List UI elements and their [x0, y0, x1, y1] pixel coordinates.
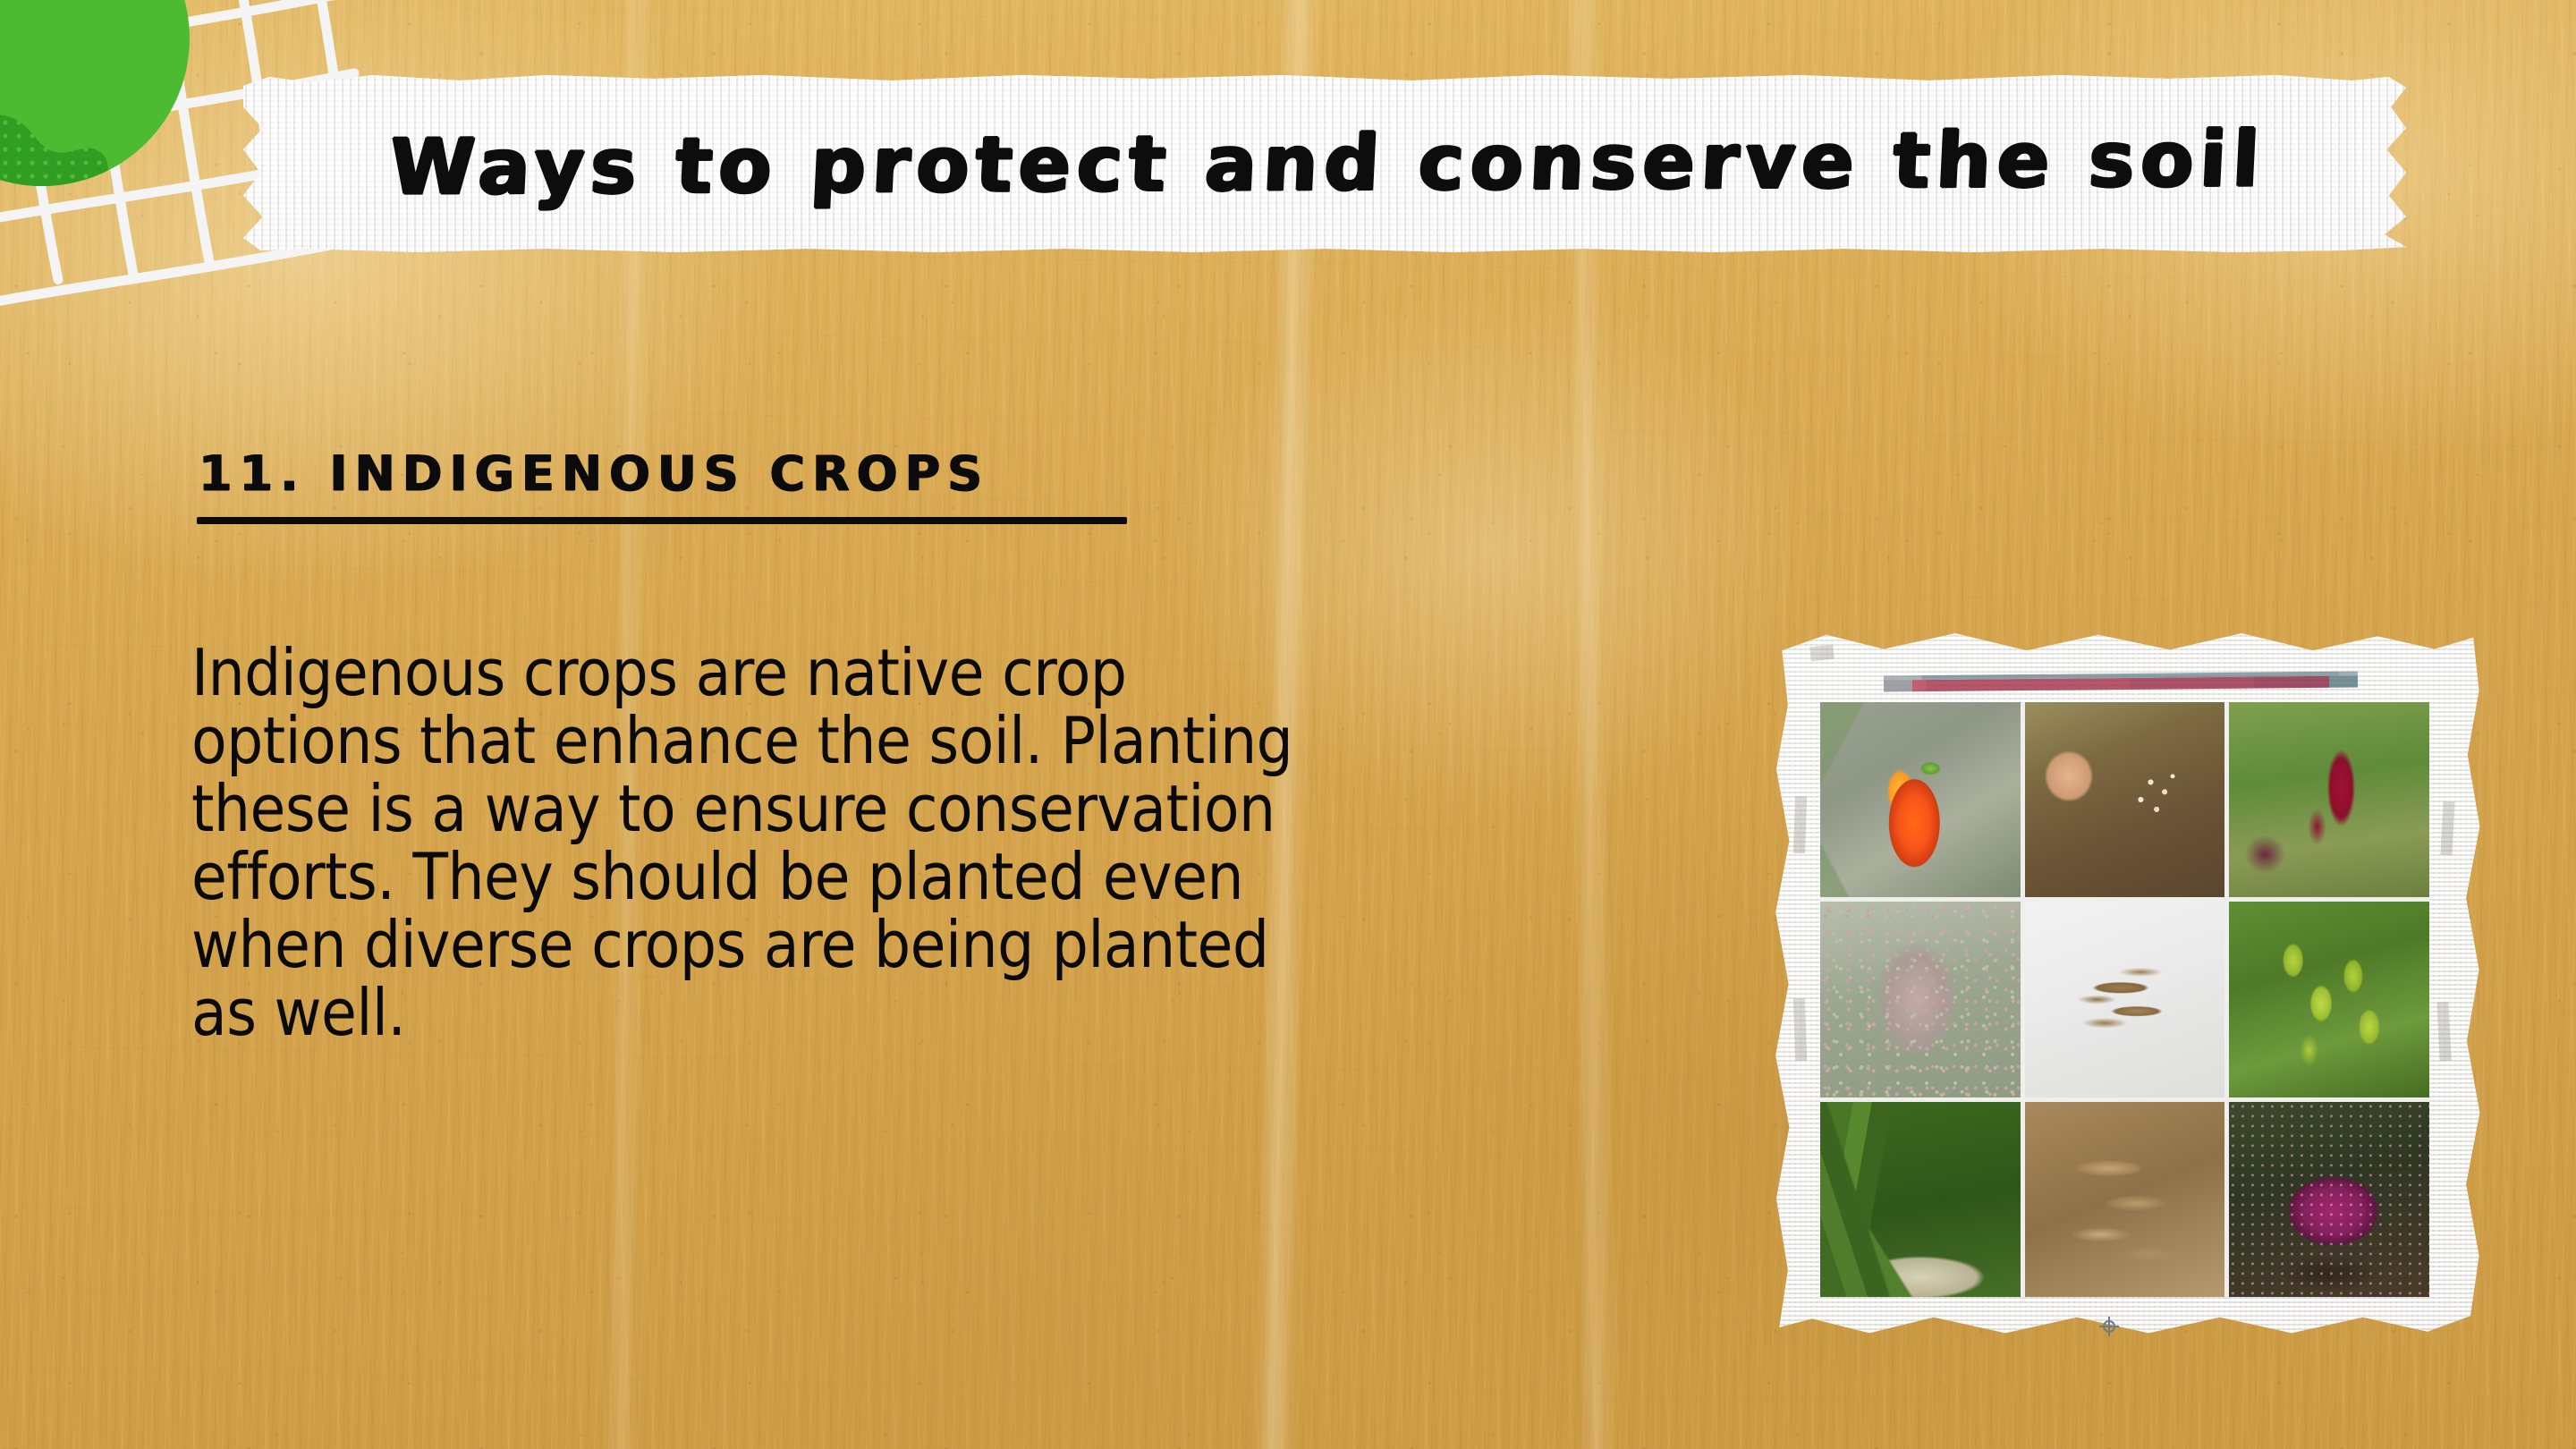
slide-root: Ways to protect and conserve the soil 11… [0, 0, 2576, 1449]
body-line: these is a way to ensure conservation [191, 775, 1676, 843]
photo-bambara-pods [2025, 902, 2225, 1097]
body-paragraph: Indigenous crops are native crop options… [191, 639, 1676, 1046]
indigenous-crops-photo-collage [1769, 626, 2485, 1342]
body-line: as well. [191, 979, 1676, 1046]
section-heading-label: 11. INDIGENOUS CROPS [199, 445, 989, 502]
registration-ring [2103, 1320, 2115, 1333]
tape-tab [1809, 645, 1835, 662]
section-heading: 11. INDIGENOUS CROPS [199, 445, 989, 502]
tape-tab [1793, 796, 1807, 853]
tape-tab [1793, 998, 1807, 1061]
registration-mark-icon [2099, 1317, 2119, 1336]
photo-grid [1820, 702, 2429, 1297]
body-line: options that enhance the soil. Planting [191, 707, 1676, 775]
photo-sorghum [1820, 902, 2021, 1097]
photo-amaranth [2229, 702, 2429, 897]
body-line: efforts. They should be planted even [191, 843, 1676, 911]
title-banner: Ways to protect and conserve the soil [243, 75, 2406, 252]
photo-green-pods [2229, 902, 2429, 1097]
page-title: Ways to protect and conserve the soil [387, 114, 2267, 212]
photo-yam [2229, 1102, 2429, 1297]
photo-cassava [2025, 1102, 2225, 1297]
body-line: when diverse crops are being planted [191, 911, 1676, 979]
section-heading-underline [197, 517, 1127, 524]
photo-okra [1820, 1102, 2021, 1297]
photo-pepper [1820, 702, 2021, 897]
body-line: Indigenous crops are native crop [191, 639, 1676, 707]
photo-hand-groundnuts [2025, 702, 2225, 897]
